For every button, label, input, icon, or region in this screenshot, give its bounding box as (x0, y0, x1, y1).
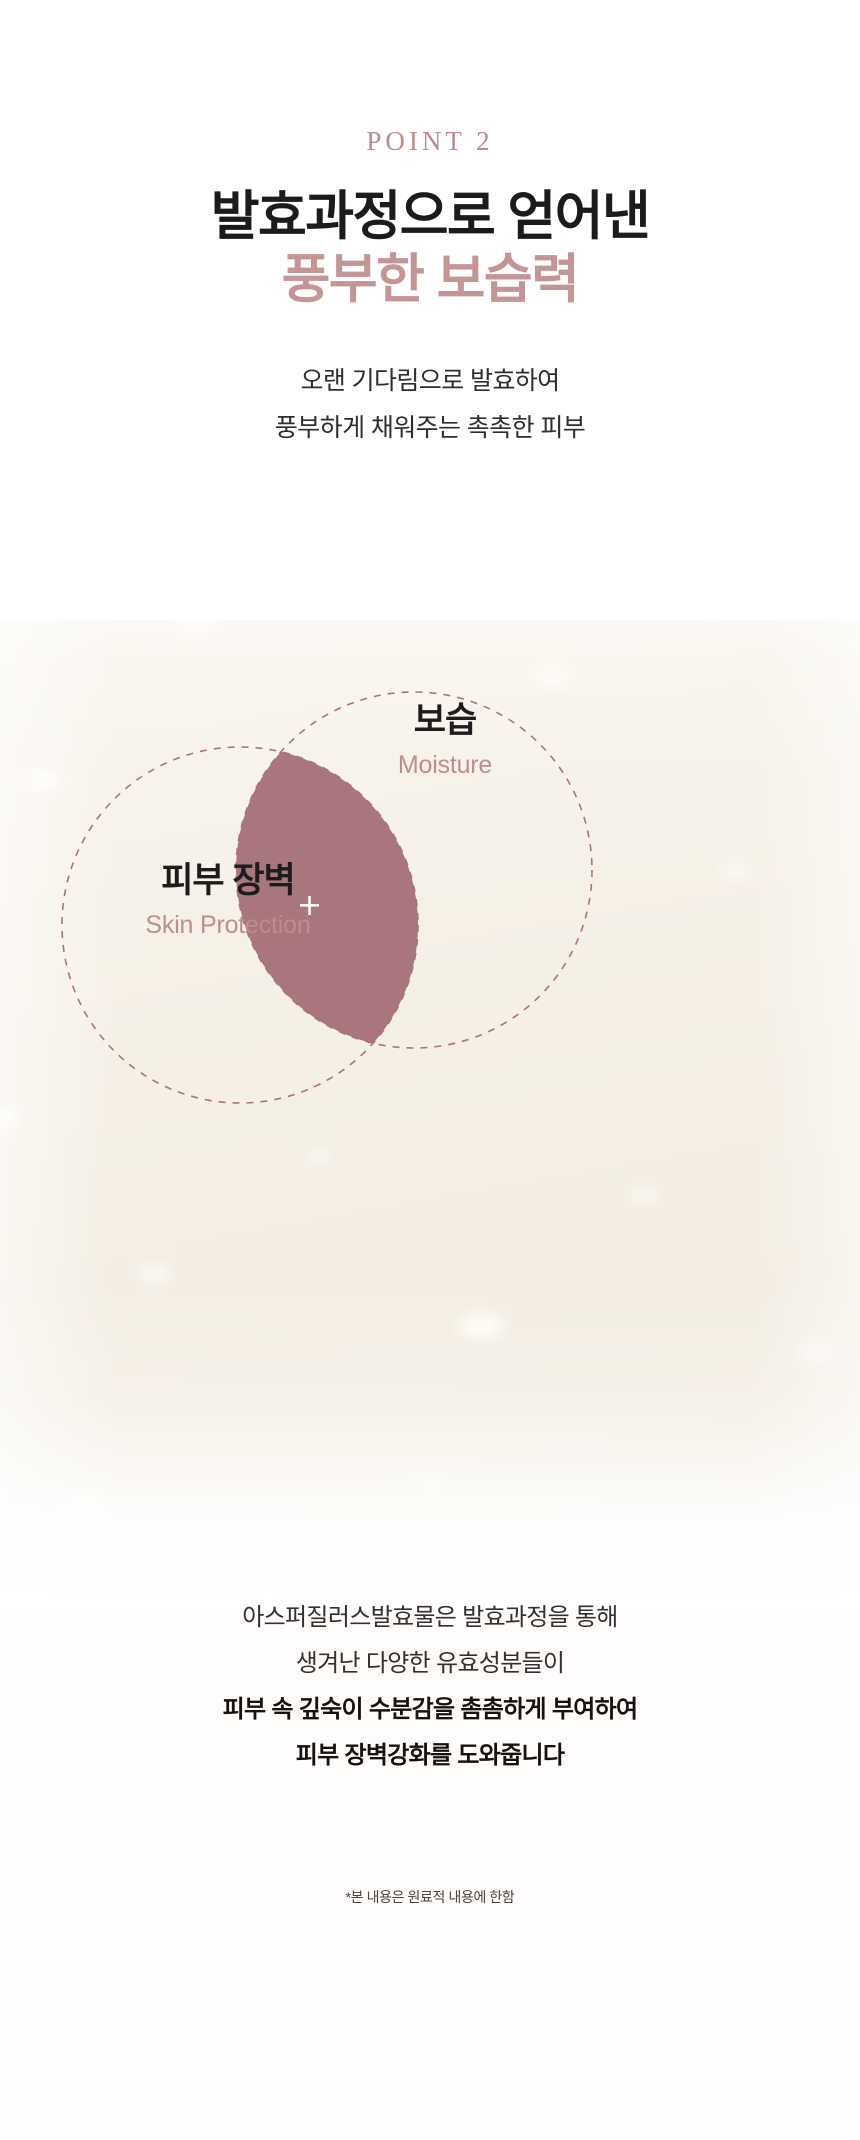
description-line-1: 아스퍼질러스발효물은 발효과정을 통해 (0, 1595, 860, 1641)
venn-label-skin-protection: 피부 장벽 Skin Protection (68, 862, 388, 939)
venn-label-moisture: 보습 Moisture (300, 702, 590, 779)
venn-label-moisture-ko: 보습 (300, 702, 590, 741)
headline-line-1: 발효과정으로 얻어낸 (0, 186, 860, 249)
venn-diagram-section: 보습 Moisture 피부 장벽 Skin Protection (0, 470, 860, 1610)
description-line-3: 피부 속 깊숙이 수분감을 촘촘하게 부여하여 (0, 1687, 860, 1733)
point-label: POINT 2 (0, 126, 860, 157)
subheading-line-1: 오랜 기다림으로 발효하여 (0, 358, 860, 405)
description-line-4: 피부 장벽강화를 도와줍니다 (0, 1733, 860, 1779)
page-title: 발효과정으로 얻어낸 풍부한 보습력 (0, 186, 860, 311)
headline-line-2: 풍부한 보습력 (0, 249, 860, 312)
footnote: *본 내용은 원료적 내용에 한함 (0, 1887, 860, 1907)
venn-label-skin-protection-ko: 피부 장벽 (68, 862, 388, 901)
subheading-line-2: 풍부하게 채워주는 촉촉한 피부 (0, 405, 860, 452)
venn-diagram (0, 470, 860, 1610)
header-section: POINT 2 발효과정으로 얻어낸 풍부한 보습력 오랜 기다림으로 발효하여… (0, 0, 860, 620)
venn-label-skin-protection-en: Skin Protection (68, 912, 388, 940)
description-block: 아스퍼질러스발효물은 발효과정을 통해 생겨난 다양한 유효성분들이 피부 속 … (0, 1595, 860, 1779)
venn-label-moisture-en: Moisture (300, 752, 590, 780)
subheading: 오랜 기다림으로 발효하여 풍부하게 채워주는 촉촉한 피부 (0, 358, 860, 451)
description-line-2: 생겨난 다양한 유효성분들이 (0, 1641, 860, 1687)
product-detail-page: POINT 2 발효과정으로 얻어낸 풍부한 보습력 오랜 기다림으로 발효하여… (0, 0, 860, 2140)
